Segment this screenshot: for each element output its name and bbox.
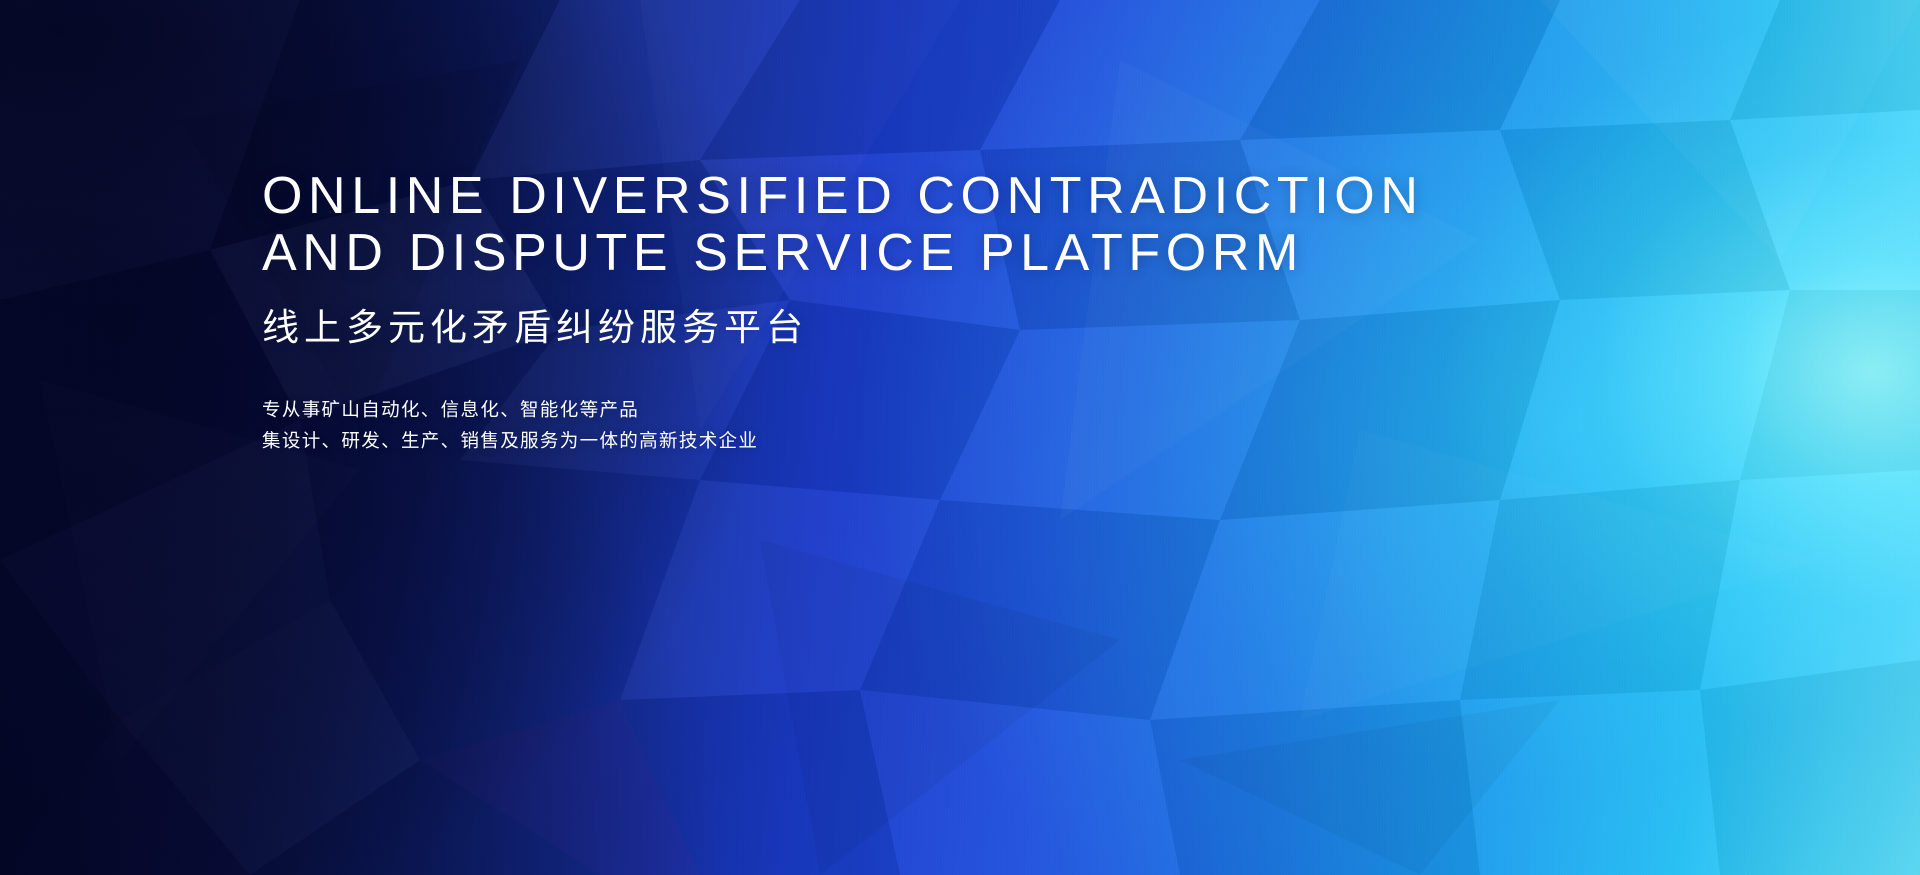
page-title: ONLINE DIVERSIFIED CONTRADICTION AND DIS… xyxy=(262,168,1382,282)
page-subtitle: 线上多元化矛盾纠纷服务平台 xyxy=(262,306,1382,350)
hero-banner: ONLINE DIVERSIFIED CONTRADICTION AND DIS… xyxy=(0,0,1920,875)
description-line-2: 集设计、研发、生产、销售及服务为一体的高新技术企业 xyxy=(262,425,1382,456)
description-line-1: 专从事矿山自动化、信息化、智能化等产品 xyxy=(262,394,1382,425)
description-list: 专从事矿山自动化、信息化、智能化等产品 集设计、研发、生产、销售及服务为一体的高… xyxy=(262,394,1382,456)
hero-content: ONLINE DIVERSIFIED CONTRADICTION AND DIS… xyxy=(262,168,1382,456)
headline-line-2: AND DISPUTE SERVICE PLATFORM xyxy=(262,225,1382,282)
headline-line-1: ONLINE DIVERSIFIED CONTRADICTION xyxy=(262,168,1382,225)
